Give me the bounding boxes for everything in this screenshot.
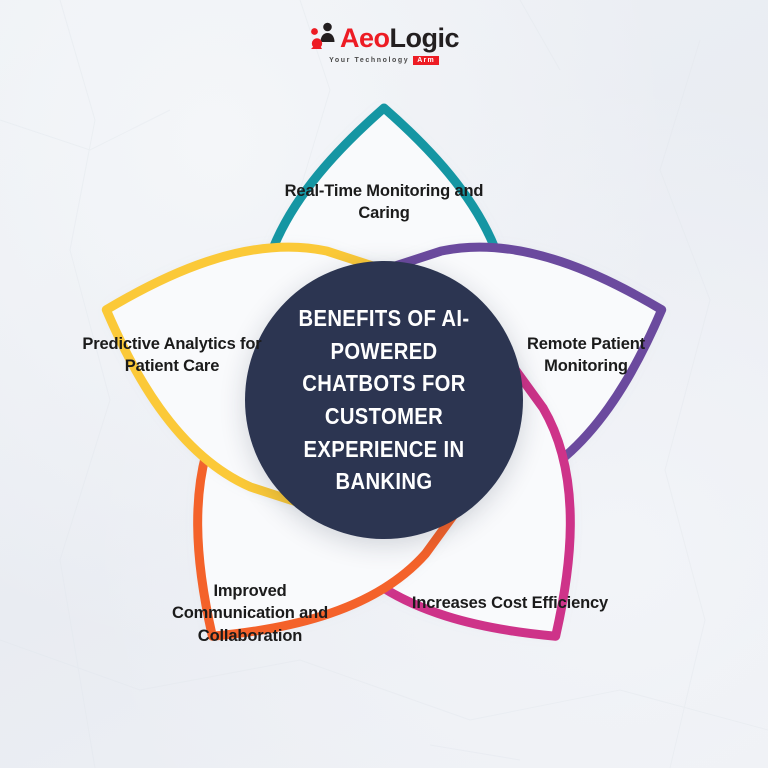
petal-label-increases-cost-efficiency[interactable]: Increases Cost Efficiency — [410, 592, 610, 614]
petal-label-remote-patient-monitoring[interactable]: Remote Patient Monitoring — [486, 333, 686, 378]
petal-label-improved-communication-and-collaboration[interactable]: Improved Communication and Collaboration — [150, 580, 350, 647]
infographic-canvas: AeoLogic Your Technology Arm Benefits of… — [0, 0, 768, 768]
hub-title: Benefits of AI-Powered Chatbots for Cust… — [274, 302, 494, 498]
petal-label-real-time-monitoring-and-caring[interactable]: Real-Time Monitoring and Caring — [284, 180, 484, 225]
center-hub: Benefits of AI-Powered Chatbots for Cust… — [245, 261, 523, 539]
petal-label-predictive-analytics-for-patient-care[interactable]: Predictive Analytics for Patient Care — [72, 333, 272, 378]
